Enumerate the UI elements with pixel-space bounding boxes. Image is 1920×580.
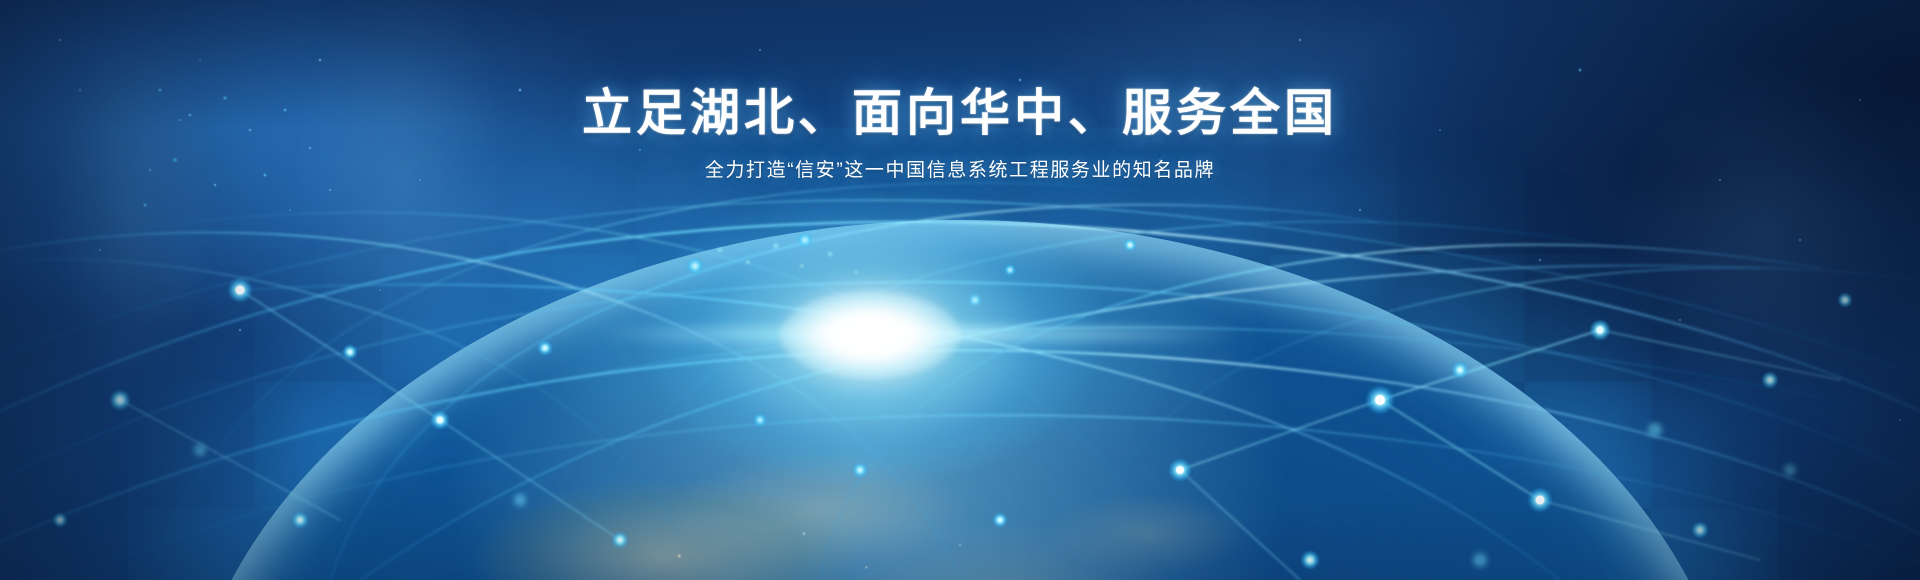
- banner-headline: 立足湖北、面向华中、服务全国: [0, 84, 1920, 142]
- sparkle-cluster-icon: [690, 232, 890, 302]
- hero-banner: 立足湖北、面向华中、服务全国 全力打造“信安”这一中国信息系统工程服务业的知名品…: [0, 0, 1920, 580]
- banner-subheadline: 全力打造“信安”这一中国信息系统工程服务业的知名品牌: [0, 158, 1920, 185]
- banner-text-block: 立足湖北、面向华中、服务全国 全力打造“信安”这一中国信息系统工程服务业的知名品…: [0, 84, 1920, 185]
